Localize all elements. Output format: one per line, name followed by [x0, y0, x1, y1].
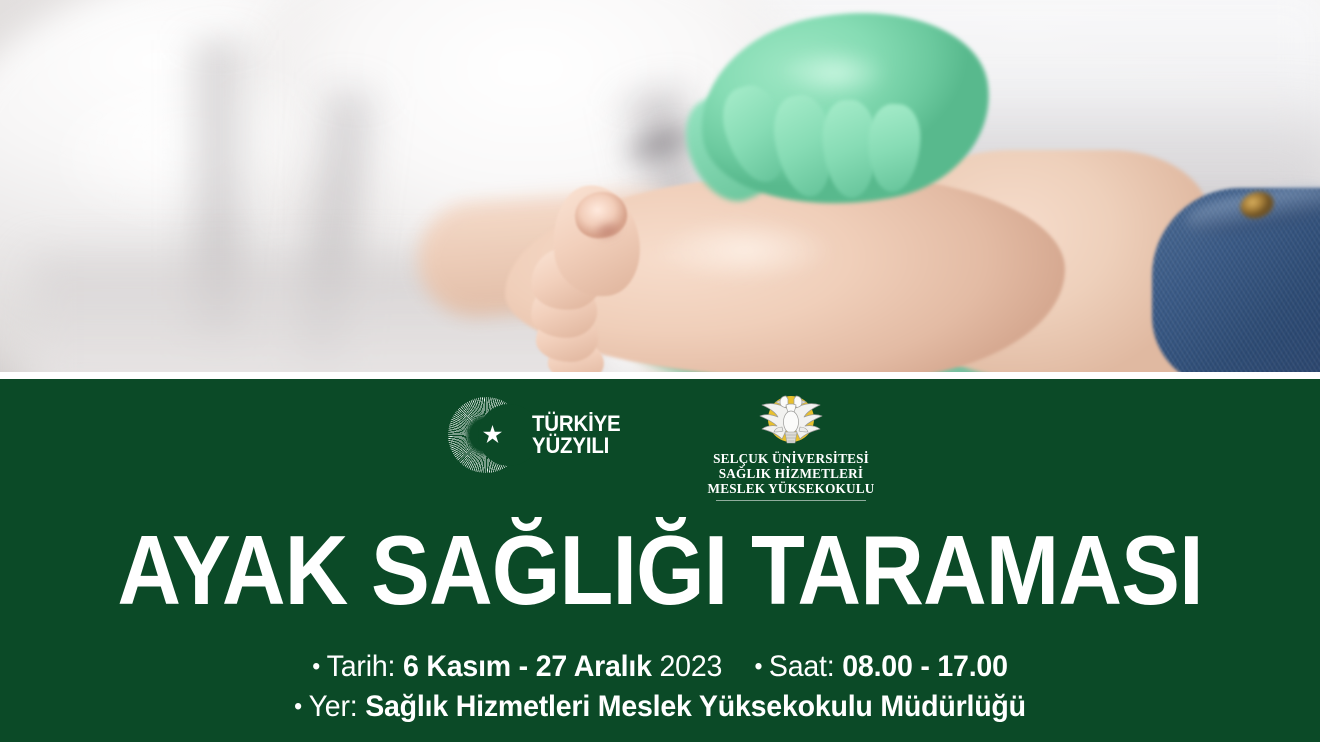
event-details: •Tarih: 6 Kasım - 27 Aralık 2023•Saat: 0… [0, 647, 1320, 727]
green-glove-lower [612, 203, 967, 372]
coat-lower-hem [30, 255, 670, 372]
background-highlight [640, 0, 1320, 200]
bullet-icon: • [754, 653, 762, 680]
background-shadow [880, 120, 1320, 270]
toe-second [528, 245, 604, 314]
toe-fourth [536, 312, 598, 362]
date-year: 2023 [660, 650, 723, 683]
green-content-panel: TÜRKİYE YÜZYILI [0, 379, 1320, 742]
white-towel [600, 330, 930, 372]
green-glove-hand [687, 0, 1003, 226]
detail-line-place: •Yer: Sağlık Hizmetleri Meslek Yüksekoku… [33, 687, 1287, 727]
seljuk-double-headed-eagle-icon [749, 391, 833, 451]
medical-coat [0, 0, 680, 372]
patient-leg [636, 280, 856, 372]
toe-little [547, 338, 606, 372]
detail-line-date-time: •Tarih: 6 Kasım - 27 Aralık 2023•Saat: 0… [33, 647, 1287, 687]
poster-root: TÜRKİYE YÜZYILI [0, 0, 1320, 742]
selcuk-wordmark-line1: SELÇUK ÜNİVERSİTESİ [696, 452, 886, 467]
denim-fold [1184, 179, 1320, 241]
foot-highlight [620, 205, 870, 295]
bullet-icon: • [294, 693, 302, 720]
glove-highlight [760, 38, 910, 108]
toenail [571, 188, 630, 242]
selcuk-wordmark: SELÇUK ÜNİVERSİTESİ SAĞLIK HİZMETLERİ ME… [696, 452, 886, 496]
green-glove-lower-detail [880, 300, 1080, 372]
date-label: Tarih: [327, 650, 396, 683]
bullet-icon: • [312, 653, 320, 680]
place-value: Sağlık Hizmetleri Meslek Yüksekokulu Müd… [365, 690, 1026, 723]
background-post [848, 40, 874, 290]
logo-row: TÜRKİYE YÜZYILI [0, 391, 1320, 503]
white-divider [0, 372, 1320, 379]
patient-ankle [880, 150, 1210, 372]
turkiye-yuzyili-logo: TÜRKİYE YÜZYILI [448, 397, 648, 473]
poster-headline: AYAK SAĞLIĞI TARAMASI [66, 521, 1254, 619]
toe-third [530, 280, 599, 339]
crescent-star-sunburst-icon [448, 397, 524, 473]
turkiye-wordmark: TÜRKİYE YÜZYILI [532, 413, 627, 456]
practitioner-forearm [414, 186, 701, 320]
crescent-cutout [478, 404, 540, 466]
toenail-shadow [583, 211, 631, 248]
selcuk-wordmark-line2: SAĞLIK HİZMETLERİ [696, 467, 886, 482]
turkiye-wordmark-line1: TÜRKİYE [532, 413, 621, 435]
hero-photo [0, 0, 1320, 372]
denim-texture [1152, 188, 1320, 372]
selcuk-wordmark-line3: MESLEK YÜKSEKOKULU [696, 482, 886, 497]
coat-fold-shadow [610, 83, 740, 297]
glove-finger [768, 91, 839, 201]
medical-coat-shoulder [250, 0, 810, 260]
coat-fold-shadow [283, 87, 387, 372]
photo-vignette [0, 0, 1320, 372]
green-glove-thumb [672, 87, 777, 213]
clinic-background [0, 0, 1320, 372]
glove-finger [820, 99, 879, 200]
time-label: Saat: [769, 650, 835, 683]
toe-big [546, 180, 647, 303]
glove-finger [866, 103, 923, 194]
denim-button [1237, 187, 1277, 222]
coat-fold-shadow [178, 40, 258, 340]
coat-fold-highlight [60, 70, 390, 250]
coat-belt-knot [589, 93, 732, 194]
background-shelf [660, 208, 1320, 246]
turkiye-wordmark-line2: YÜZYILI [532, 435, 621, 457]
glove-finger [715, 79, 798, 189]
selcuk-universitesi-logo: SELÇUK ÜNİVERSİTESİ SAĞLIK HİZMETLERİ ME… [696, 391, 886, 501]
logo-underline [716, 500, 866, 501]
place-label: Yer: [309, 690, 358, 723]
date-value: 6 Kasım - 27 Aralık [403, 650, 652, 683]
time-value: 08.00 - 17.00 [842, 650, 1008, 683]
denim-cuff [1152, 188, 1320, 372]
patient-foot [505, 175, 1065, 372]
